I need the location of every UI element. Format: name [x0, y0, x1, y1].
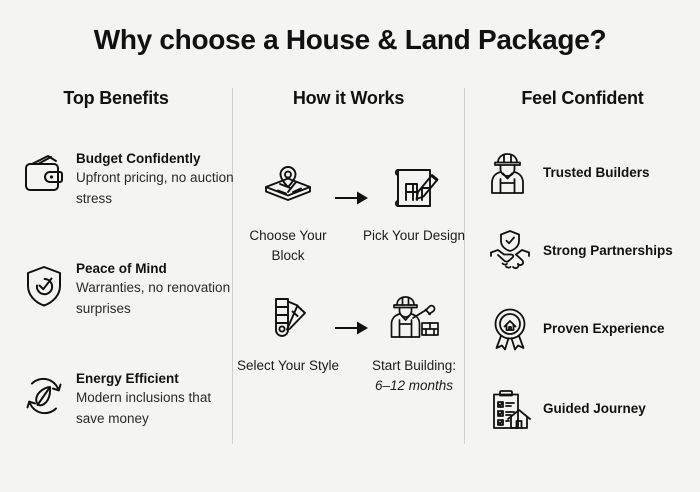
column-heading-how-it-works: How it Works: [233, 88, 464, 109]
wallet-icon: [20, 152, 68, 200]
column-how-it-works: How it Works: [233, 88, 464, 109]
confidence-item-strong-partnerships: Strong Partnerships: [487, 228, 699, 274]
step-label-emphasis: 6–12 months: [362, 376, 466, 396]
step-label: Start Building: 6–12 months: [362, 356, 466, 395]
eco-leaf-recycle-icon: [20, 372, 68, 420]
benefit-item-peace-of-mind: Peace of Mind Warranties, no renovation …: [20, 260, 235, 320]
color-swatch-fan-icon: [236, 290, 340, 346]
confidence-item-guided-journey: Guided Journey: [487, 386, 699, 432]
benefit-title: Peace of Mind: [76, 261, 235, 278]
infographic-page: Why choose a House & Land Package? Top B…: [0, 0, 700, 492]
step-label: Pick Your Design: [362, 226, 466, 246]
column-top-benefits: Top Benefits: [0, 88, 232, 109]
builder-trowel-bricks-icon: [362, 290, 466, 346]
clipboard-checklist-house-icon: [487, 386, 533, 432]
step-start-building: Start Building: 6–12 months: [362, 290, 466, 395]
step-choose-your-block: Choose Your Block: [236, 160, 340, 265]
confidence-label: Strong Partnerships: [543, 242, 673, 260]
construction-worker-icon: [487, 150, 533, 196]
benefit-description: Upfront pricing, no auction stress: [76, 168, 235, 210]
confidence-label: Proven Experience: [543, 320, 665, 338]
award-ribbon-house-icon: [487, 306, 533, 352]
benefit-title: Energy Efficient: [76, 371, 235, 388]
shield-check-icon: [20, 262, 68, 310]
column-feel-confident: Feel Confident: [465, 88, 700, 109]
confidence-label: Guided Journey: [543, 400, 646, 418]
step-label-main: Start Building:: [372, 358, 456, 373]
step-pick-your-design: Pick Your Design: [362, 160, 466, 246]
benefit-description: Warranties, no renovation surprises: [76, 278, 235, 320]
confidence-label: Trusted Builders: [543, 164, 650, 182]
step-label: Choose Your Block: [236, 226, 340, 265]
benefit-item-budget: Budget Confidently Upfront pricing, no a…: [20, 150, 235, 210]
land-plot-pin-icon: [236, 160, 340, 216]
benefit-description: Modern inclusions that save money: [76, 388, 235, 430]
step-select-your-style: Select Your Style: [236, 290, 340, 376]
confidence-item-trusted-builders: Trusted Builders: [487, 150, 699, 196]
benefit-text-budget: Budget Confidently Upfront pricing, no a…: [76, 150, 235, 210]
column-heading-benefits: Top Benefits: [0, 88, 232, 109]
benefit-item-energy-efficient: Energy Efficient Modern inclusions that …: [20, 370, 235, 430]
benefit-title: Budget Confidently: [76, 151, 235, 168]
blueprint-pencil-icon: [362, 160, 466, 216]
benefit-text-peace-of-mind: Peace of Mind Warranties, no renovation …: [76, 260, 235, 320]
step-label: Select Your Style: [236, 356, 340, 376]
column-heading-feel-confident: Feel Confident: [465, 88, 700, 109]
benefit-text-energy-efficient: Energy Efficient Modern inclusions that …: [76, 370, 235, 430]
handshake-shield-icon: [487, 228, 533, 274]
confidence-item-proven-experience: Proven Experience: [487, 306, 699, 352]
page-title: Why choose a House & Land Package?: [0, 24, 700, 56]
